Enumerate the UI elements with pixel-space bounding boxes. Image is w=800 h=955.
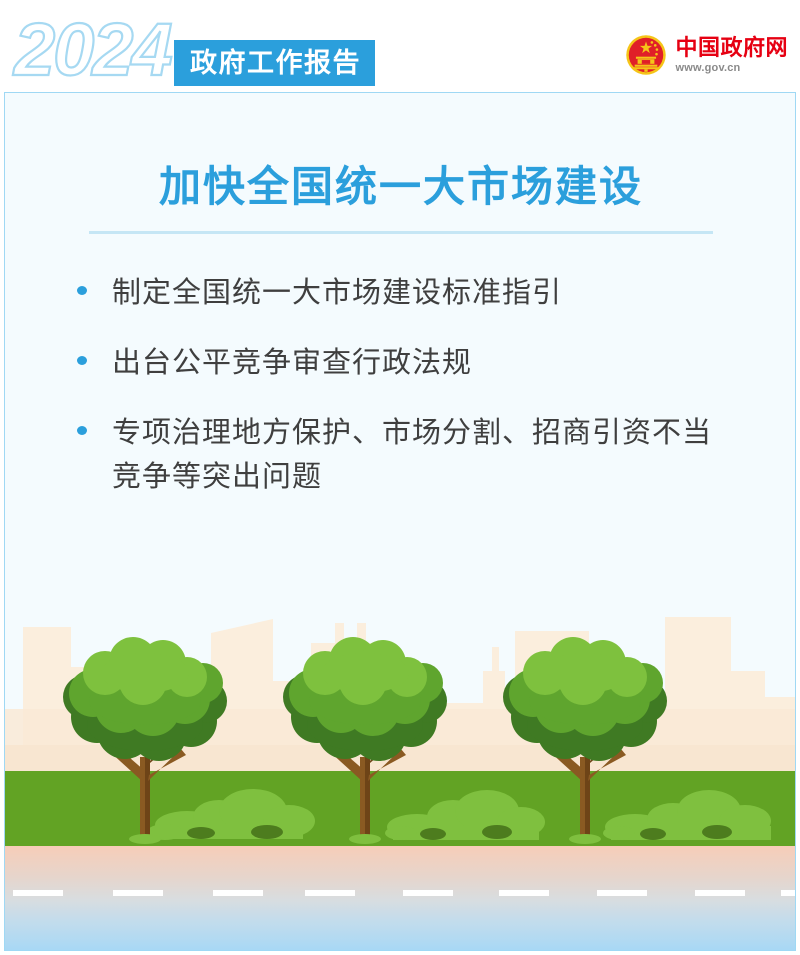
logo-title: 中国政府网: [675, 36, 788, 60]
list-item: 专项治理地方保护、市场分割、招商引资不当竞争等突出问题: [77, 411, 757, 499]
china-national-emblem-icon: [625, 34, 667, 76]
infographic-page: 2024 政府工作报告: [0, 0, 800, 955]
logo-url: www.gov.cn: [675, 61, 788, 75]
list-item-label: 制定全国统一大市场建设标准指引: [112, 271, 562, 315]
site-logo[interactable]: 中国政府网 www.gov.cn: [625, 34, 788, 76]
content-card: 加快全国统一大市场建设 制定全国统一大市场建设标准指引 出台公平竞争审查行政法规…: [4, 92, 796, 951]
illustration-svg: [5, 585, 795, 950]
bullet-dot-icon: [77, 356, 87, 365]
road: [5, 846, 795, 950]
report-tab[interactable]: 政府工作报告: [174, 40, 375, 86]
logo-text-block: 中国政府网 www.gov.cn: [675, 36, 788, 75]
list-item: 出台公平竞争审查行政法规: [77, 341, 757, 385]
page-header: 2024 政府工作报告: [0, 0, 800, 92]
bullet-dot-icon: [77, 286, 87, 295]
bullet-dot-icon: [77, 426, 87, 435]
title-divider: [89, 231, 713, 234]
list-item-label: 出台公平竞争审查行政法规: [112, 341, 472, 385]
year-outline-text: 2024: [14, 14, 171, 86]
bullet-list: 制定全国统一大市场建设标准指引 出台公平竞争审查行政法规 专项治理地方保护、市场…: [77, 271, 757, 525]
page-title: 加快全国统一大市场建设: [5, 153, 796, 214]
list-item: 制定全国统一大市场建设标准指引: [77, 271, 757, 315]
list-item-label: 专项治理地方保护、市场分割、招商引资不当竞争等突出问题: [112, 411, 720, 499]
report-tab-label: 政府工作报告: [190, 40, 361, 86]
city-park-illustration: [5, 585, 795, 950]
